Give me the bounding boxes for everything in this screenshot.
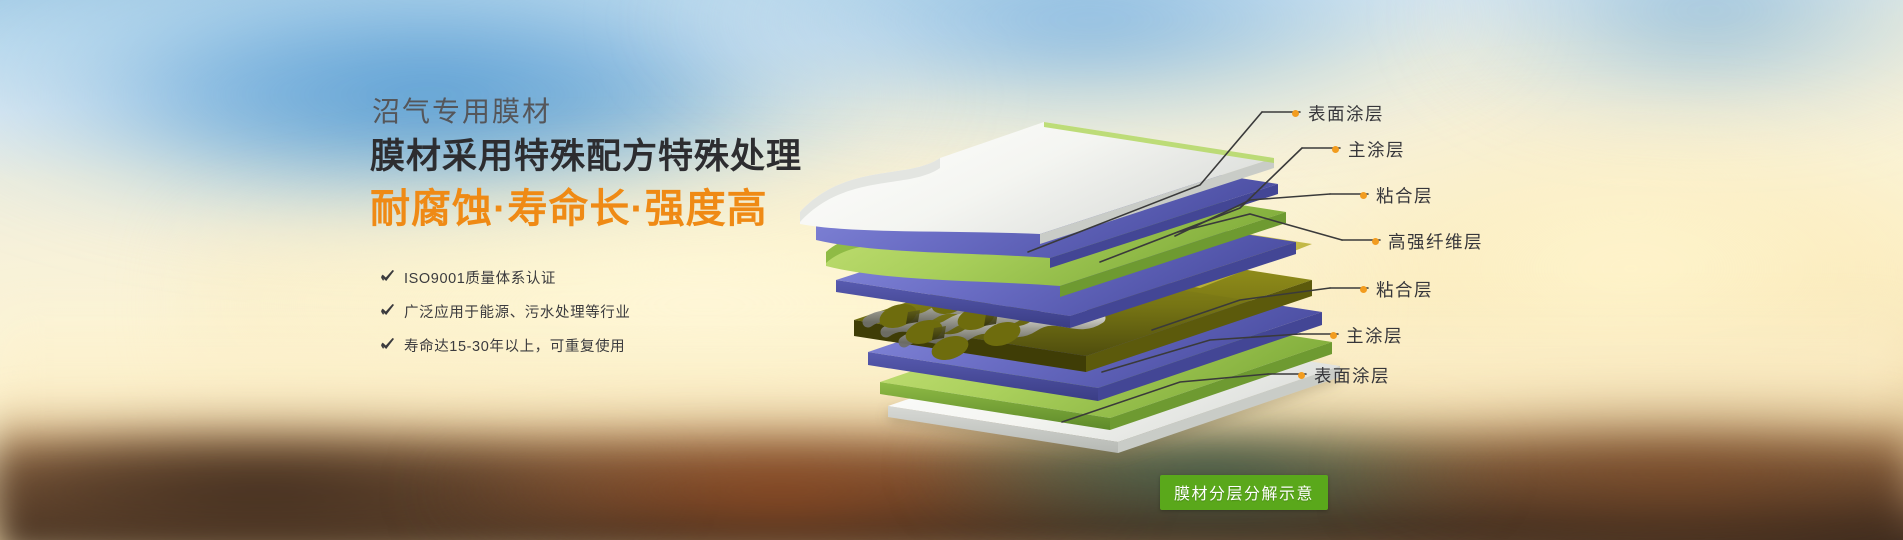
callout-main-coating-top: 主涂层 [1332,137,1405,162]
promo-banner: 沼气专用膜材 膜材采用特殊配方特殊处理 耐腐蚀·寿命长·强度高 ISO9001质… [0,0,1903,540]
callout-high-strength-fiber: 高强纤维层 [1372,229,1483,254]
callout-dot-icon [1372,238,1379,245]
feature-label: ISO9001质量体系认证 [404,267,556,288]
callout-label: 粘合层 [1376,183,1433,208]
callout-label: 主涂层 [1346,323,1403,348]
callout-dot-icon [1298,372,1305,379]
callout-adhesive-bottom: 粘合层 [1360,277,1433,302]
callout-label: 粘合层 [1376,277,1433,302]
callout-adhesive-top: 粘合层 [1360,183,1433,208]
diagram-caption-badge: 膜材分层分解示意 [1160,475,1328,510]
callout-dot-icon [1330,332,1337,339]
feature-label: 广泛应用于能源、污水处理等行业 [404,301,631,322]
callout-dot-icon [1292,110,1299,117]
callout-label: 主涂层 [1348,137,1405,162]
callout-label: 表面涂层 [1308,101,1384,126]
callout-label: 表面涂层 [1314,363,1390,388]
callout-dot-icon [1360,286,1367,293]
callout-dot-icon [1332,146,1339,153]
check-icon [380,303,395,318]
check-icon [380,269,395,284]
callout-dot-icon [1360,192,1367,199]
background-cloud-blue-right [1430,0,1903,110]
callout-surface-coating-bottom: 表面涂层 [1298,363,1390,388]
feature-label: 寿命达15-30年以上，可重复使用 [404,335,625,356]
callout-label: 高强纤维层 [1388,229,1483,254]
callout-surface-coating-top: 表面涂层 [1292,101,1384,126]
check-icon [380,337,395,352]
diagram-caption-label: 膜材分层分解示意 [1174,486,1314,503]
callout-main-coating-bottom: 主涂层 [1330,323,1403,348]
